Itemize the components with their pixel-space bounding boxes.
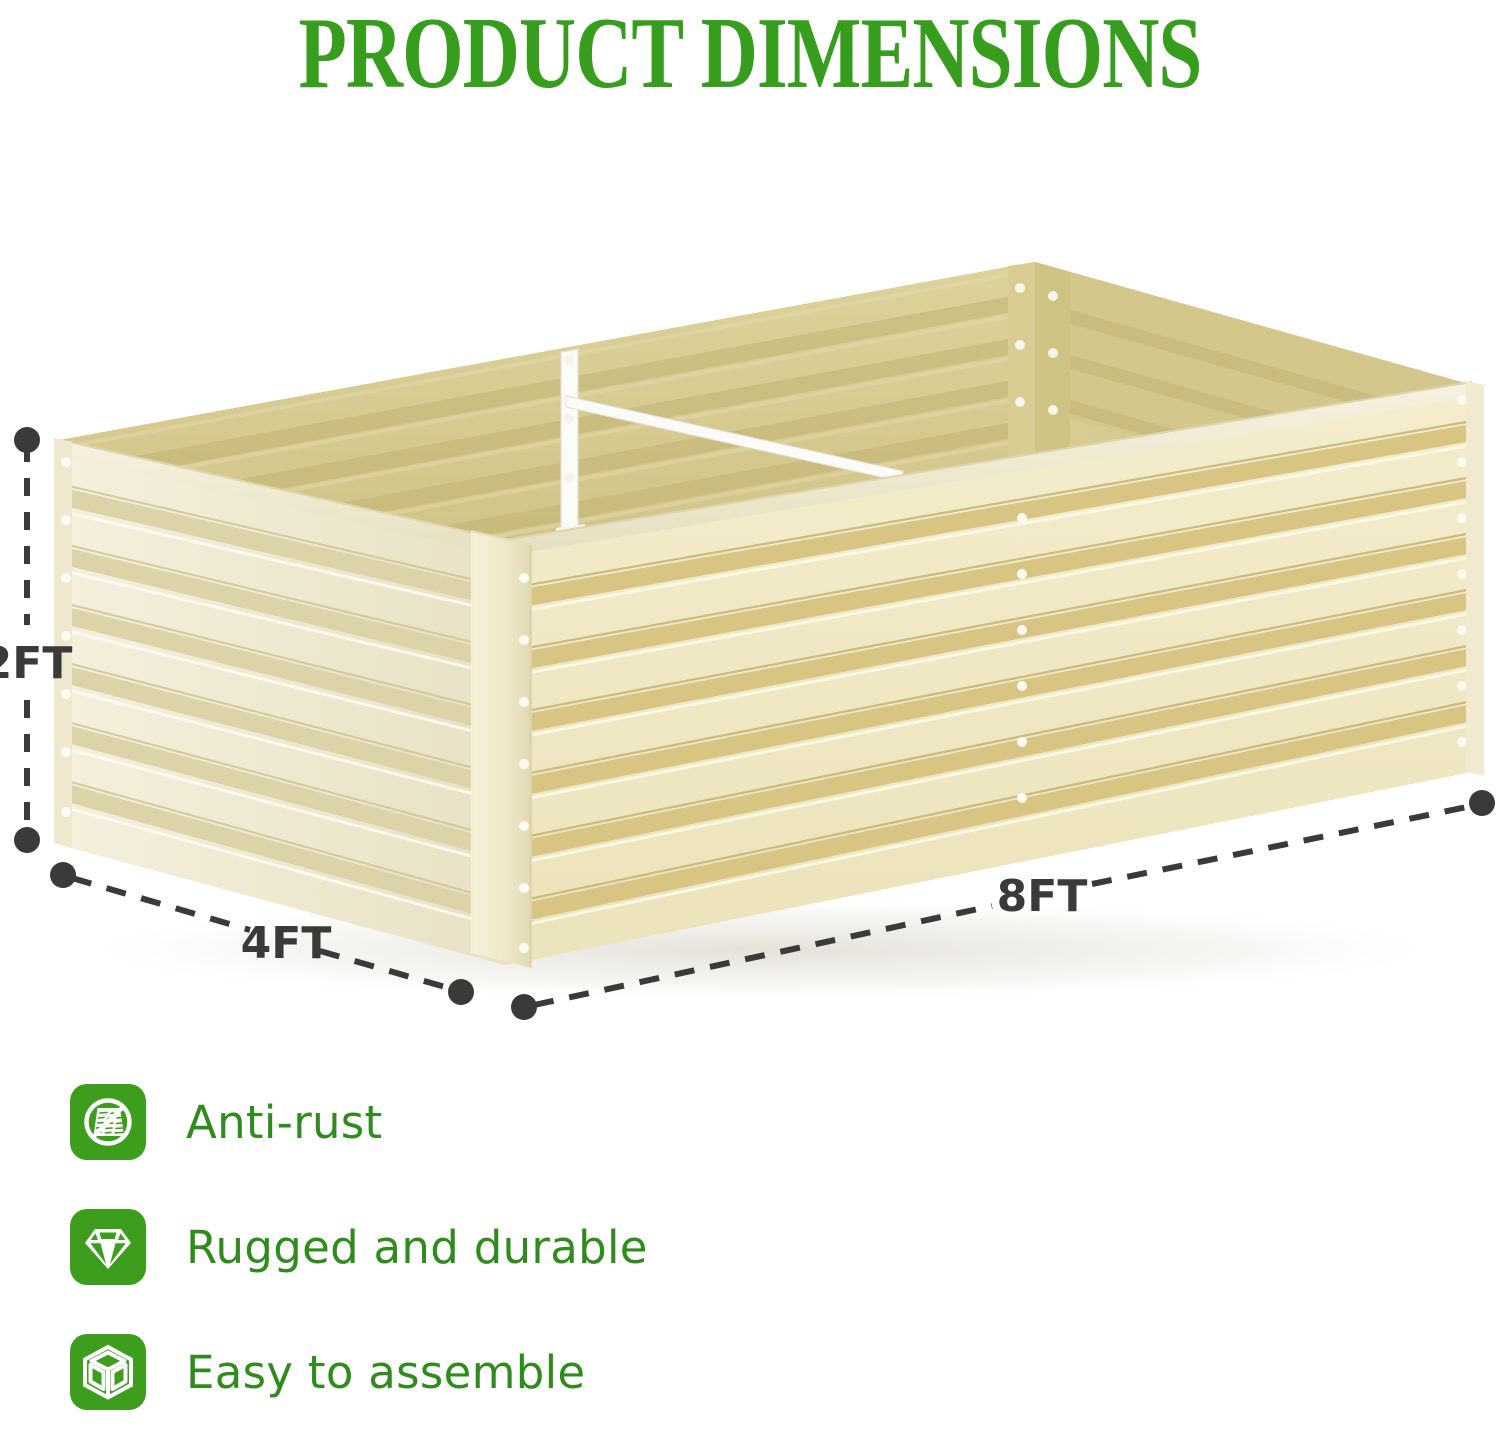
product-illustration: 2FT 4FT 8FT: [0, 0, 1500, 1060]
dimension-label-height: 2FT: [0, 638, 72, 689]
feature-item-assemble: Easy to assemble: [70, 1332, 585, 1412]
feature-label: Easy to assemble: [186, 1350, 585, 1395]
feature-item-rugged: Rugged and durable: [70, 1207, 648, 1287]
diamond-gem-icon: [70, 1209, 146, 1285]
dimension-endpoint: [14, 827, 40, 853]
diamond-gem-icon-glyph: [81, 1220, 135, 1274]
dimension-endpoint: [1469, 790, 1495, 816]
dimension-label-width: 8FT: [997, 871, 1088, 922]
dimension-endpoint: [448, 979, 474, 1005]
raised-garden-bed-svg: 2FT 4FT 8FT: [0, 0, 1500, 1060]
feature-label: Rugged and durable: [186, 1225, 648, 1270]
front-left-corner-post: [471, 531, 532, 968]
cube-box-icon: [70, 1334, 146, 1410]
feature-item-anti-rust: Anti-rust: [70, 1082, 383, 1162]
no-rust-icon-glyph: [80, 1094, 136, 1150]
dimension-endpoint: [14, 427, 40, 453]
no-rust-icon: [70, 1084, 146, 1160]
dimension-endpoint: [511, 994, 537, 1020]
cube-box-icon-glyph: [81, 1344, 135, 1400]
front-right-corner-post: [1466, 381, 1484, 776]
dimension-endpoint: [50, 862, 76, 888]
feature-list: Anti-rust Rugged and durable: [0, 1062, 1500, 1431]
dimension-label-depth: 4FT: [241, 918, 332, 969]
feature-label: Anti-rust: [186, 1100, 383, 1145]
